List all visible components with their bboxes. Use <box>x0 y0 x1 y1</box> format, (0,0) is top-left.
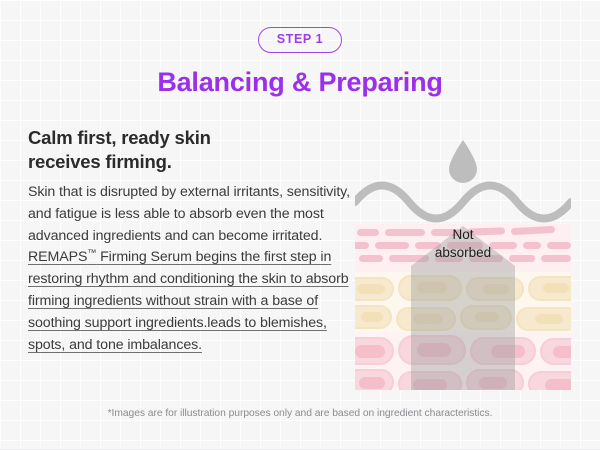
subheading-line-2: receives firming. <box>28 151 172 172</box>
body-paragraph: Skin that is disrupted by external irrit… <box>28 182 350 357</box>
body-text-underlined: REMAPS™ Firming Serum begins the first s… <box>28 249 349 352</box>
skin-absorption-illustration <box>355 132 571 390</box>
step-badge: STEP 1 <box>258 27 342 53</box>
subheading: Calm first, ready skin receives firming. <box>28 126 350 175</box>
page-title: Balancing & Preparing <box>0 66 600 98</box>
subheading-line-1: Calm first, ready skin <box>28 127 211 148</box>
illustration-svg <box>355 132 571 390</box>
step-badge-row: STEP 1 <box>0 27 600 53</box>
water-droplet-icon <box>449 140 477 183</box>
brand-name: REMAPS <box>28 249 87 265</box>
slide-root: STEP 1 Balancing & Preparing Calm first,… <box>0 0 600 450</box>
body-text-plain: Skin that is disrupted by external irrit… <box>28 184 350 244</box>
footnote: *Images are for illustration purposes on… <box>0 408 600 419</box>
wavy-barrier-line-icon <box>355 186 571 219</box>
text-column: Calm first, ready skin receives firming.… <box>28 126 350 357</box>
trademark-symbol: ™ <box>87 248 96 258</box>
